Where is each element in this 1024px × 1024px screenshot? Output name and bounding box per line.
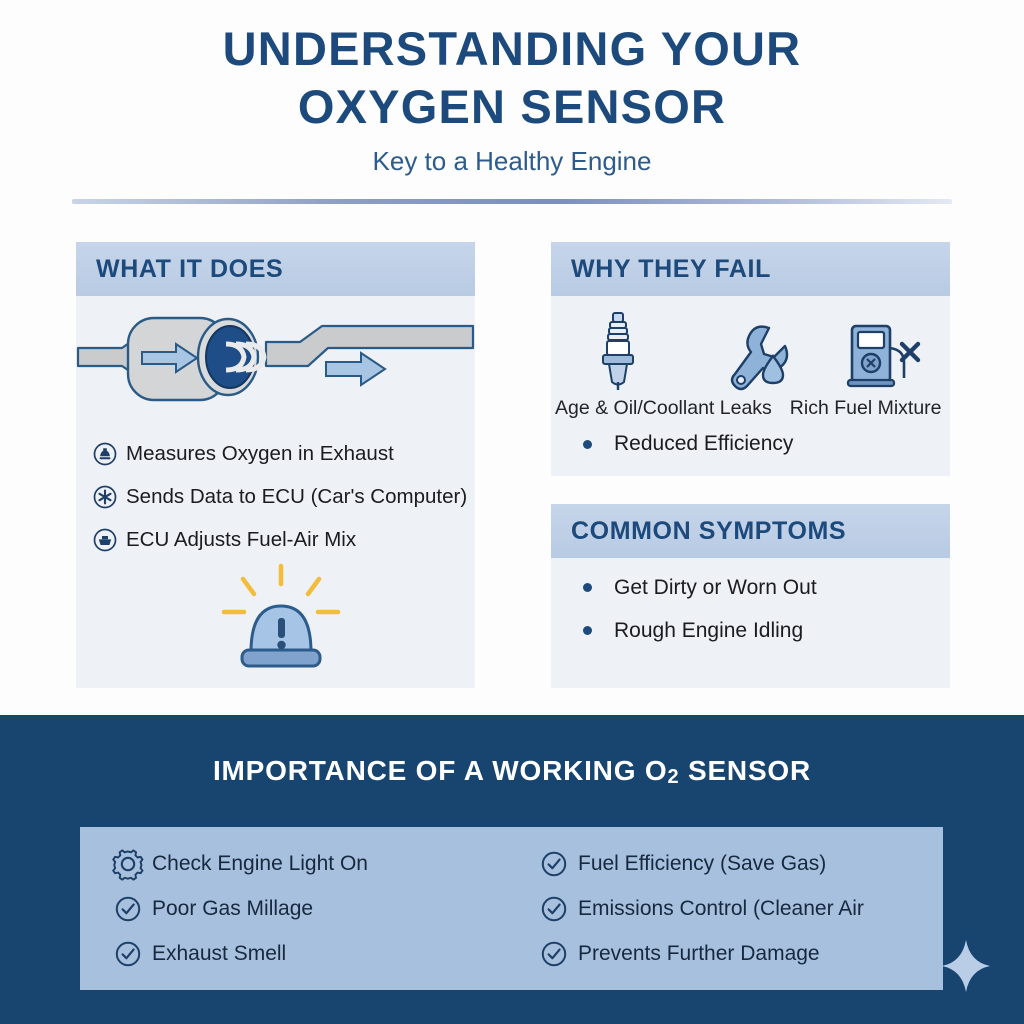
list-item: ECU Adjusts Fuel-Air Mix: [88, 518, 558, 561]
what-it-does-feature-list: Measures Oxygen in Exhaust Sends Data to…: [88, 432, 558, 561]
card-common-symptoms-title: COMMON SYMPTOMS: [571, 517, 846, 546]
failure-cause-labels: Age & Oil/Coollant Leaks Rich Fuel Mixtu…: [555, 397, 1015, 420]
sparkle-star-icon: [940, 938, 992, 994]
list-item-label: Poor Gas Millage: [152, 897, 313, 921]
card-why-they-fail-title: WHY THEY FAIL: [571, 255, 771, 284]
list-item: Reduced Efficiency: [583, 432, 793, 456]
warning-beacon-icon: [196, 560, 366, 680]
exhaust-pipe-oxygen-sensor-diagram: [76, 304, 475, 414]
page-title-line1: UNDERSTANDING YOUR: [223, 22, 802, 75]
wrench-oil-drop-icon: [691, 304, 811, 394]
bullet-dot-icon: [583, 626, 592, 635]
check-circle-icon: [530, 851, 578, 877]
band-title-prefix: IMPORTANCE OF A WORKING O: [213, 755, 668, 786]
list-item: Poor Gas Millage: [104, 886, 368, 931]
list-item: Emissions Control (Cleaner Air: [530, 886, 864, 931]
check-circle-icon: [104, 941, 152, 967]
infographic-page: UNDERSTANDING YOUR OXYGEN SENSOR Key to …: [0, 0, 1024, 1024]
card-why-they-fail-header: WHY THEY FAIL: [551, 242, 950, 296]
page-subtitle: Key to a Healthy Engine: [0, 144, 1024, 178]
list-item-label: ECU Adjusts Fuel-Air Mix: [126, 528, 356, 552]
list-item-label: Exhaust Smell: [152, 942, 286, 966]
card-why-they-fail: WHY THEY FAIL: [551, 242, 950, 476]
common-symptoms-list: Get Dirty or Worn Out Rough Engine Idlin…: [583, 566, 817, 652]
spark-plug-icon: [558, 304, 678, 394]
card-common-symptoms-header: COMMON SYMPTOMS: [551, 504, 950, 558]
list-item: Sends Data to ECU (Car's Computer): [88, 475, 558, 518]
page-title: UNDERSTANDING YOUR OXYGEN SENSOR: [0, 0, 1024, 136]
card-what-it-does-title: WHAT IT DOES: [96, 255, 283, 284]
list-item: Measures Oxygen in Exhaust: [88, 432, 558, 475]
fuel-mix-icon: [88, 528, 122, 552]
asterisk-signal-icon: [88, 485, 122, 509]
list-item: Rough Engine Idling: [583, 609, 817, 652]
list-item: Fuel Efficiency (Save Gas): [530, 841, 864, 886]
bullet-dot-icon: [583, 583, 592, 592]
card-common-symptoms: COMMON SYMPTOMS Get Dirty or Worn Out Ro…: [551, 504, 950, 688]
list-item: Get Dirty or Worn Out: [583, 566, 817, 609]
header-divider: [72, 199, 952, 204]
page-title-line2: OXYGEN SENSOR: [0, 78, 1024, 136]
list-item-label: Prevents Further Damage: [578, 942, 820, 966]
band-title-suffix: SENSOR: [679, 755, 811, 786]
card-what-it-does-header: WHAT IT DOES: [76, 242, 475, 296]
check-circle-icon: [104, 896, 152, 922]
band-title-subscript: 2: [667, 766, 679, 788]
list-item-label: Reduced Efficiency: [614, 432, 793, 456]
failure-cause-label: Age & Oil/Coollant Leaks: [555, 397, 772, 420]
bullet-dot-icon: [583, 440, 592, 449]
sensor-probe-icon: [88, 442, 122, 466]
benefits-column-right: Fuel Efficiency (Save Gas) Emissions Con…: [530, 841, 864, 976]
failure-cause-icons: [551, 298, 950, 394]
list-item: Prevents Further Damage: [530, 931, 864, 976]
check-circle-icon: [530, 896, 578, 922]
list-item-label: Check Engine Light On: [152, 852, 368, 876]
page-header: UNDERSTANDING YOUR OXYGEN SENSOR Key to …: [0, 0, 1024, 200]
importance-band: IMPORTANCE OF A WORKING O2 SENSOR Check …: [0, 715, 1024, 1024]
list-item: Check Engine Light On: [104, 841, 368, 886]
benefits-column-left: Check Engine Light On Poor Gas Millage: [104, 841, 368, 976]
check-circle-icon: [530, 941, 578, 967]
list-item: Exhaust Smell: [104, 931, 368, 976]
list-item-label: Measures Oxygen in Exhaust: [126, 442, 394, 466]
list-item-label: Sends Data to ECU (Car's Computer): [126, 485, 467, 509]
list-item-label: Rough Engine Idling: [614, 619, 803, 643]
list-item-label: Fuel Efficiency (Save Gas): [578, 852, 826, 876]
benefits-panel: Check Engine Light On Poor Gas Millage: [80, 827, 943, 990]
list-item-label: Get Dirty or Worn Out: [614, 576, 817, 600]
fuel-pump-x-icon: [824, 304, 944, 394]
list-item-label: Emissions Control (Cleaner Air: [578, 897, 864, 921]
failure-cause-label: Rich Fuel Mixture: [790, 397, 942, 420]
gear-icon: [104, 846, 152, 882]
band-title: IMPORTANCE OF A WORKING O2 SENSOR: [0, 755, 1024, 787]
